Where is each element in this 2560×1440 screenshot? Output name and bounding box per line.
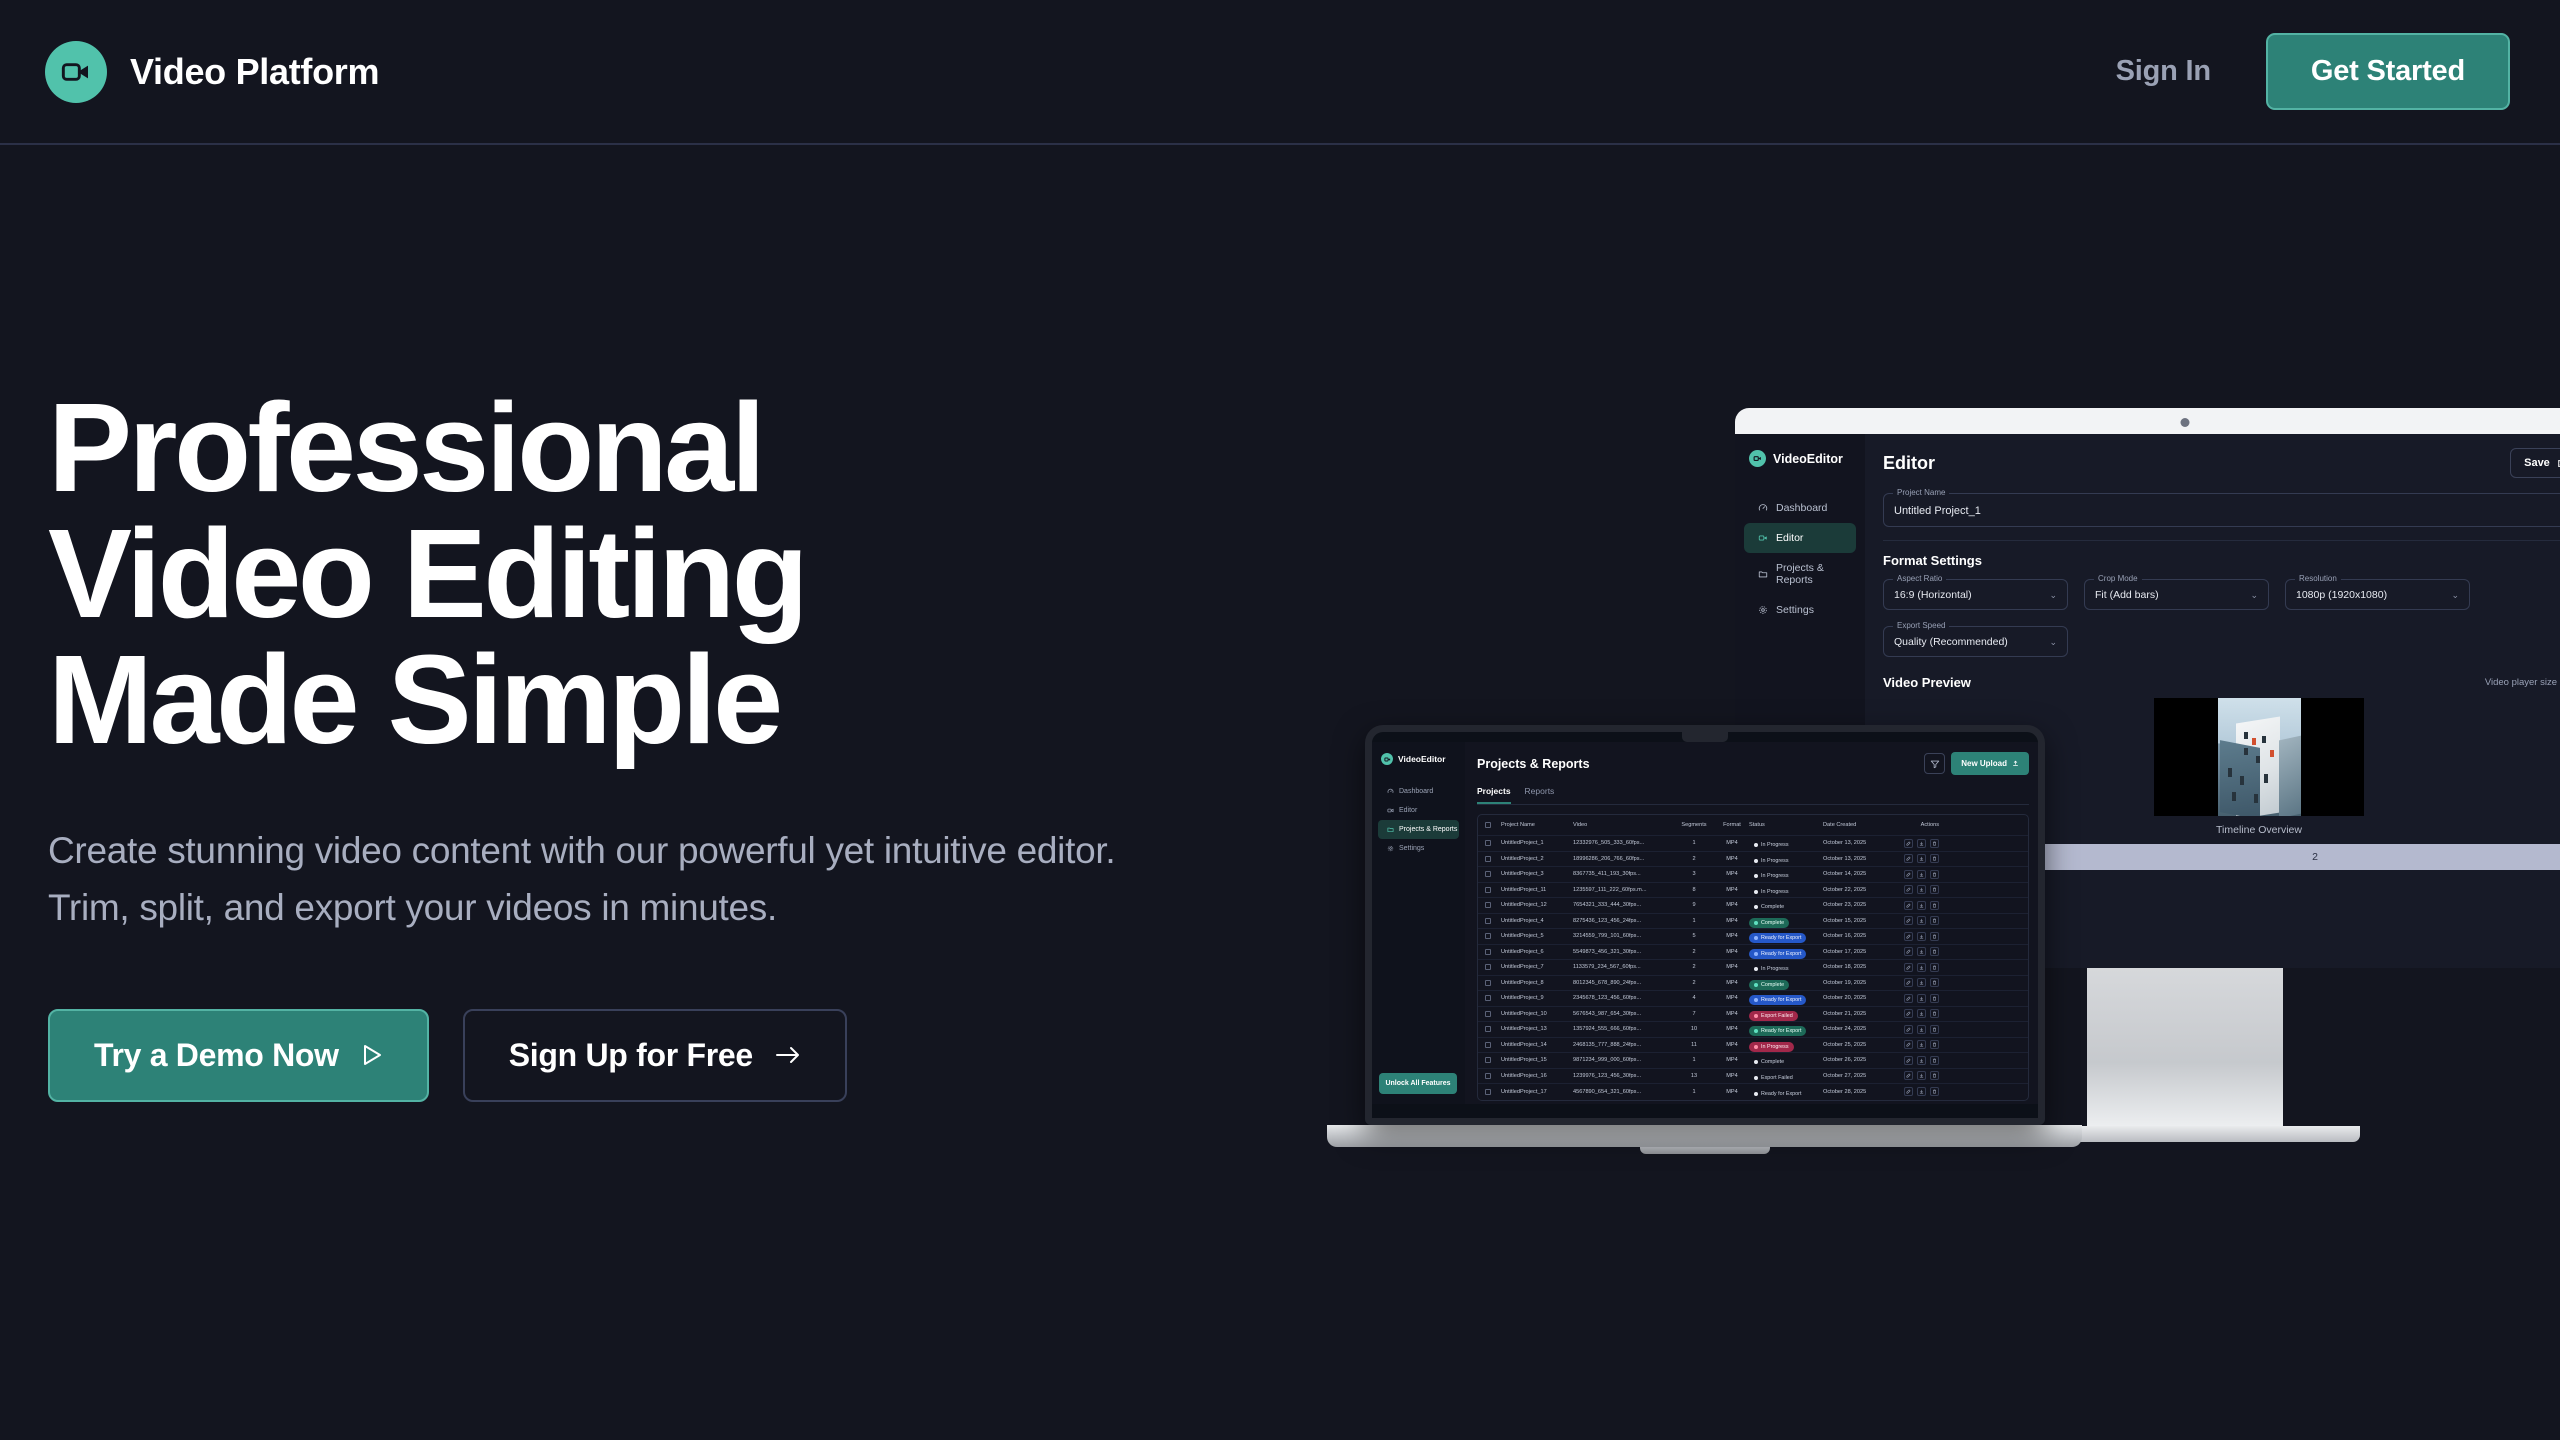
cell-segments: 10 [1673, 1026, 1715, 1032]
chevron-down-icon: ⌄ [2049, 590, 2057, 601]
table-header-row: Project Name Video Segments Format Statu… [1478, 815, 2028, 836]
cell-video: 5676543_987_654_30fps... [1573, 1011, 1673, 1017]
row-checkbox[interactable] [1485, 871, 1491, 877]
status-badge: Export Failed [1749, 1011, 1798, 1021]
download-icon[interactable] [1917, 854, 1926, 863]
edit-icon[interactable] [1904, 1071, 1913, 1080]
edit-icon[interactable] [1904, 916, 1913, 925]
cell-video: 7654321_333_444_30fps... [1573, 902, 1673, 908]
status-badge: Complete [1749, 1057, 1789, 1067]
cell-segments: 2 [1673, 980, 1715, 986]
cell-video: 3214559_799_101_60fps... [1573, 933, 1673, 939]
resolution-label: Resolution [2295, 574, 2341, 583]
status-badge: In Progress [1749, 856, 1794, 866]
export-speed-value: Quality (Recommended) [1894, 636, 2008, 648]
cell-video: 2468135_777_888_24fps... [1573, 1042, 1673, 1048]
trash-icon[interactable] [1930, 994, 1939, 1003]
trash-icon[interactable] [1930, 870, 1939, 879]
cell-date-created: October 21, 2025 [1823, 1011, 1893, 1017]
row-checkbox[interactable] [1485, 964, 1491, 970]
download-icon[interactable] [1917, 901, 1926, 910]
save-label: Save [2524, 457, 2550, 469]
cell-project-name: UntitledProject_11 [1501, 887, 1573, 893]
edit-icon[interactable] [1904, 1025, 1913, 1034]
cell-segments: 8 [1673, 887, 1715, 893]
download-icon[interactable] [1917, 947, 1926, 956]
edit-icon[interactable] [1904, 947, 1913, 956]
cell-segments: 9 [1673, 902, 1715, 908]
resolution-value: 1080p (1920x1080) [2296, 589, 2387, 601]
edit-icon[interactable] [1904, 870, 1913, 879]
download-icon[interactable] [1917, 932, 1926, 941]
row-checkbox[interactable] [1485, 856, 1491, 862]
download-icon[interactable] [1917, 1040, 1926, 1049]
gauge-icon [1758, 503, 1768, 513]
editor-toolbar-buttons: Save Exp [2510, 448, 2560, 478]
cell-project-name: UntitledProject_14 [1501, 1042, 1573, 1048]
trash-icon[interactable] [1930, 901, 1939, 910]
column-header-project-name[interactable]: Project Name [1501, 822, 1573, 828]
cell-format: MP4 [1715, 887, 1749, 893]
divider [1883, 540, 2560, 541]
row-checkbox[interactable] [1485, 1026, 1491, 1032]
editor-toolbar: Editor Save Ex [1883, 448, 2560, 478]
row-checkbox[interactable] [1485, 933, 1491, 939]
cell-date-created: October 28, 2025 [1823, 1089, 1893, 1095]
trash-icon[interactable] [1930, 1087, 1939, 1096]
status-badge: In Progress [1749, 840, 1794, 850]
edit-icon[interactable] [1904, 963, 1913, 972]
column-header-format[interactable]: Format [1715, 822, 1749, 828]
edit-icon[interactable] [1904, 1040, 1913, 1049]
projects-page-title: Projects & Reports [1477, 757, 1590, 771]
cell-video: 18996286_206_766_60fps... [1573, 856, 1673, 862]
download-icon[interactable] [1917, 870, 1926, 879]
column-header-date-created[interactable]: Date Created [1823, 822, 1893, 828]
sidebar-item-editor[interactable]: Editor [1744, 523, 1856, 553]
crop-mode-label: Crop Mode [2094, 574, 2142, 583]
edit-icon[interactable] [1904, 1056, 1913, 1065]
cell-segments: 2 [1673, 856, 1715, 862]
download-icon[interactable] [1917, 916, 1926, 925]
cell-date-created: October 15, 2025 [1823, 918, 1893, 924]
cell-format: MP4 [1715, 933, 1749, 939]
projects-toolbar-actions: New Upload [1924, 752, 2029, 775]
edit-icon[interactable] [1904, 978, 1913, 987]
cell-project-name: UntitledProject_5 [1501, 933, 1573, 939]
select-all-checkbox[interactable] [1485, 822, 1491, 828]
cell-date-created: October 23, 2025 [1823, 902, 1893, 908]
status-badge: Ready for Export [1749, 933, 1806, 943]
project-name-label: Project Name [1893, 488, 1949, 497]
trash-icon[interactable] [1930, 839, 1939, 848]
projects-sidebar: VideoEditor Dashboard [1372, 742, 1465, 1104]
status-badge: Ready for Export [1749, 949, 1806, 959]
project-name-field[interactable]: Project Name Untitled Project_1 [1883, 493, 2560, 527]
row-checkbox[interactable] [1485, 1042, 1491, 1048]
laptop-mockup: VideoEditor Dashboard [1365, 725, 2045, 1154]
cell-segments: 1 [1673, 918, 1715, 924]
column-header-status[interactable]: Status [1749, 822, 1823, 828]
cell-format: MP4 [1715, 1011, 1749, 1017]
row-checkbox[interactable] [1485, 887, 1491, 893]
player-size-label: Video player size [2485, 677, 2557, 688]
crop-mode-value: Fit (Add bars) [2095, 589, 2159, 601]
trash-icon[interactable] [1930, 854, 1939, 863]
download-icon[interactable] [1917, 994, 1926, 1003]
edit-icon[interactable] [1904, 994, 1913, 1003]
cell-project-name: UntitledProject_2 [1501, 856, 1573, 862]
row-checkbox[interactable] [1485, 1073, 1491, 1079]
unlock-all-features-button[interactable]: Unlock All Features [1379, 1073, 1457, 1094]
sidebar-item-projects-reports[interactable]: Projects & Reports [1378, 820, 1459, 839]
column-header-segments[interactable]: Segments [1673, 822, 1715, 828]
format-settings-title: Format Settings [1883, 553, 2560, 568]
player-size-slider[interactable]: Video player size [2485, 677, 2560, 689]
upload-icon [2012, 760, 2019, 767]
cell-format: MP4 [1715, 840, 1749, 846]
trash-icon[interactable] [1930, 916, 1939, 925]
cell-format: MP4 [1715, 995, 1749, 1001]
cell-video: 2345678_123_456_60fps... [1573, 995, 1673, 1001]
table-row[interactable]: UntitledProject_161239976_123_456_30fps.… [1478, 1069, 2028, 1085]
laptop-screen: VideoEditor Dashboard [1372, 742, 2038, 1104]
folder-icon [1387, 826, 1394, 833]
editor-app-name: VideoEditor [1773, 452, 1843, 466]
table-body: UntitledProject_112332976_505_333_60fps.… [1478, 836, 2028, 1100]
trash-icon[interactable] [1930, 947, 1939, 956]
video-player[interactable] [2154, 698, 2364, 816]
cell-video: 1235597_111_222_60fps.m... [1573, 887, 1673, 893]
cell-date-created: October 18, 2025 [1823, 964, 1893, 970]
export-speed-select[interactable]: Export Speed Quality (Recommended) ⌄ [1883, 626, 2068, 657]
status-badge: Export Failed [1749, 1073, 1798, 1083]
editor-app-logo: VideoEditor [1735, 450, 1865, 467]
download-icon[interactable] [1917, 839, 1926, 848]
cell-project-name: UntitledProject_3 [1501, 871, 1573, 877]
cell-date-created: October 26, 2025 [1823, 1057, 1893, 1063]
sidebar-item-label: Dashboard [1399, 788, 1433, 795]
download-icon[interactable] [1917, 963, 1926, 972]
format-settings-group: Aspect Ratio 16:9 (Horizontal) ⌄ Crop Mo… [1883, 579, 2560, 657]
cell-video: 1357924_555_666_60fps... [1573, 1026, 1673, 1032]
cell-video: 5549873_456_321_30fps... [1573, 949, 1673, 955]
cell-segments: 2 [1673, 949, 1715, 955]
resolution-select[interactable]: Resolution 1080p (1920x1080) ⌄ [2285, 579, 2470, 610]
laptop-app-name: VideoEditor [1398, 754, 1446, 764]
row-checkbox[interactable] [1485, 1011, 1491, 1017]
download-icon[interactable] [1917, 1025, 1926, 1034]
chevron-down-icon: ⌄ [2250, 590, 2258, 601]
sidebar-item-label: Projects & Reports [1399, 826, 1457, 833]
trash-icon[interactable] [1930, 932, 1939, 941]
laptop-base [1327, 1125, 2082, 1147]
cell-segments: 13 [1673, 1073, 1715, 1079]
laptop-app-logo: VideoEditor [1372, 753, 1465, 765]
tab-reports[interactable]: Reports [1525, 786, 1555, 804]
cell-project-name: UntitledProject_9 [1501, 995, 1573, 1001]
status-badge: In Progress [1749, 1042, 1794, 1052]
cell-video: 1133579_234_567_60fps... [1573, 964, 1673, 970]
cell-project-name: UntitledProject_16 [1501, 1073, 1573, 1079]
sidebar-item-label: Settings [1399, 845, 1424, 852]
trash-icon[interactable] [1930, 1040, 1939, 1049]
cell-segments: 7 [1673, 1011, 1715, 1017]
edit-icon[interactable] [1904, 1009, 1913, 1018]
cell-format: MP4 [1715, 902, 1749, 908]
cell-video: 1239976_123_456_30fps... [1573, 1073, 1673, 1079]
webcam-icon [2181, 418, 2190, 427]
row-checkbox[interactable] [1485, 902, 1491, 908]
cell-video: 4567890_654_321_60fps... [1573, 1089, 1673, 1095]
tab-projects[interactable]: Projects [1477, 786, 1511, 804]
cell-format: MP4 [1715, 1026, 1749, 1032]
projects-toolbar: Projects & Reports New Upload [1477, 752, 2029, 775]
projects-main: Projects & Reports New Upload [1465, 742, 2038, 1104]
cell-project-name: UntitledProject_1 [1501, 840, 1573, 846]
trash-icon[interactable] [1930, 1056, 1939, 1065]
export-speed-label: Export Speed [1893, 621, 1949, 630]
cell-format: MP4 [1715, 1042, 1749, 1048]
sidebar-item-label: Settings [1776, 604, 1814, 616]
status-badge: In Progress [1749, 964, 1794, 974]
projects-table: Project Name Video Segments Format Statu… [1477, 814, 2029, 1101]
trash-icon[interactable] [1930, 885, 1939, 894]
cell-video: 9871234_999_000_60fps... [1573, 1057, 1673, 1063]
download-icon[interactable] [1917, 1071, 1926, 1080]
cell-format: MP4 [1715, 1073, 1749, 1079]
status-badge: In Progress [1749, 887, 1794, 897]
cell-date-created: October 17, 2025 [1823, 949, 1893, 955]
cell-format: MP4 [1715, 1057, 1749, 1063]
cell-segments: 2 [1673, 964, 1715, 970]
trash-icon[interactable] [1930, 1025, 1939, 1034]
sidebar-item-editor[interactable]: Editor [1378, 801, 1459, 820]
video-preview-title: Video Preview [1883, 675, 1971, 690]
cell-format: MP4 [1715, 1089, 1749, 1095]
folder-icon [1758, 569, 1768, 579]
save-button[interactable]: Save [2510, 448, 2560, 478]
row-checkbox[interactable] [1485, 1089, 1491, 1095]
status-badge: In Progress [1749, 871, 1794, 881]
cell-format: MP4 [1715, 980, 1749, 986]
cell-date-created: October 13, 2025 [1823, 840, 1893, 846]
laptop-notch [1682, 732, 1728, 742]
cell-project-name: UntitledProject_7 [1501, 964, 1573, 970]
cell-format: MP4 [1715, 918, 1749, 924]
cell-date-created: October 22, 2025 [1823, 887, 1893, 893]
sidebar-item-label: Editor [1776, 532, 1803, 544]
cell-project-name: UntitledProject_10 [1501, 1011, 1573, 1017]
sidebar-item-settings[interactable]: Settings [1378, 839, 1459, 858]
aspect-ratio-select[interactable]: Aspect Ratio 16:9 (Horizontal) ⌄ [1883, 579, 2068, 610]
project-name-value: Untitled Project_1 [1894, 505, 2560, 517]
laptop-foot [1640, 1147, 1770, 1154]
sidebar-item-dashboard[interactable]: Dashboard [1744, 493, 1856, 523]
row-checkbox[interactable] [1485, 840, 1491, 846]
edit-icon[interactable] [1904, 1087, 1913, 1096]
row-checkbox[interactable] [1485, 1057, 1491, 1063]
cell-date-created: October 13, 2025 [1823, 856, 1893, 862]
cell-format: MP4 [1715, 964, 1749, 970]
edit-icon[interactable] [1904, 885, 1913, 894]
cell-video: 8012345_678_890_24fps... [1573, 980, 1673, 986]
chevron-down-icon: ⌄ [2451, 590, 2459, 601]
row-checkbox[interactable] [1485, 949, 1491, 955]
cell-segments: 1 [1673, 1057, 1715, 1063]
sidebar-item-label: Editor [1399, 807, 1417, 814]
cell-project-name: UntitledProject_15 [1501, 1057, 1573, 1063]
video-camera-icon [1387, 807, 1394, 814]
sidebar-item-label: Projects & Reports [1776, 562, 1856, 586]
cell-date-created: October 24, 2025 [1823, 1026, 1893, 1032]
device-mockups: VideoEditor Dashboard [0, 0, 2560, 1440]
column-header-actions: Actions [1893, 822, 1939, 828]
cell-format: MP4 [1715, 949, 1749, 955]
edit-icon[interactable] [1904, 854, 1913, 863]
download-icon[interactable] [1917, 1009, 1926, 1018]
cell-date-created: October 19, 2025 [1823, 980, 1893, 986]
cell-video: 8367735_411_193_30fps... [1573, 871, 1673, 877]
new-upload-label: New Upload [1961, 759, 2007, 768]
trash-icon[interactable] [1930, 963, 1939, 972]
cell-project-name: UntitledProject_8 [1501, 980, 1573, 986]
new-upload-button[interactable]: New Upload [1951, 752, 2029, 775]
cell-video: 8275436_123_456_24fps... [1573, 918, 1673, 924]
monitor-neck [2087, 968, 2283, 1126]
cell-format: MP4 [1715, 856, 1749, 862]
row-checkbox[interactable] [1485, 980, 1491, 986]
status-badge: Ready for Export [1749, 995, 1806, 1005]
row-checkbox[interactable] [1485, 995, 1491, 1001]
trash-icon[interactable] [1930, 1071, 1939, 1080]
status-badge: Ready for Export [1749, 1026, 1806, 1036]
timeline-overview-label: Timeline Overview [2216, 824, 2302, 836]
cell-video: 12332976_505_333_60fps... [1573, 840, 1673, 846]
status-badge: Complete [1749, 918, 1789, 928]
sidebar-item-settings[interactable]: Settings [1744, 595, 1856, 625]
crop-mode-select[interactable]: Crop Mode Fit (Add bars) ⌄ [2084, 579, 2269, 610]
download-icon[interactable] [1917, 1056, 1926, 1065]
download-icon[interactable] [1917, 978, 1926, 987]
cell-project-name: UntitledProject_6 [1501, 949, 1573, 955]
cell-project-name: UntitledProject_12 [1501, 902, 1573, 908]
aspect-ratio-label: Aspect Ratio [1893, 574, 1946, 583]
download-icon[interactable] [1917, 1087, 1926, 1096]
status-badge: Complete [1749, 902, 1789, 912]
status-badge: Complete [1749, 980, 1789, 990]
cell-segments: 1 [1673, 1089, 1715, 1095]
cell-segments: 3 [1673, 871, 1715, 877]
trash-icon[interactable] [1930, 1009, 1939, 1018]
status-badge: Ready for Export [1749, 1089, 1806, 1099]
laptop-lid: VideoEditor Dashboard [1365, 725, 2045, 1125]
cell-project-name: UntitledProject_13 [1501, 1026, 1573, 1032]
gear-icon [1387, 845, 1394, 852]
editor-page-title: Editor [1883, 453, 1935, 474]
cell-format: MP4 [1715, 871, 1749, 877]
cell-date-created: October 25, 2025 [1823, 1042, 1893, 1048]
cell-date-created: October 20, 2025 [1823, 995, 1893, 1001]
aspect-ratio-value: 16:9 (Horizontal) [1894, 589, 1972, 601]
video-preview-header: Video Preview Video player size [1883, 675, 2560, 690]
sidebar-item-projects-reports[interactable]: Projects & Reports [1744, 553, 1856, 595]
table-row[interactable]: UntitledProject_174567890_654_321_60fps.… [1478, 1084, 2028, 1100]
column-header-video[interactable]: Video [1573, 822, 1673, 828]
cell-segments: 11 [1673, 1042, 1715, 1048]
sidebar-item-dashboard[interactable]: Dashboard [1378, 782, 1459, 801]
projects-tabs: Projects Reports [1477, 786, 2029, 805]
edit-icon[interactable] [1904, 839, 1913, 848]
chevron-down-icon: ⌄ [2049, 637, 2057, 648]
cell-project-name: UntitledProject_4 [1501, 918, 1573, 924]
download-icon[interactable] [1917, 885, 1926, 894]
edit-icon[interactable] [1904, 932, 1913, 941]
filter-icon[interactable] [1924, 753, 1945, 774]
gear-icon [1758, 605, 1768, 615]
video-camera-icon [1758, 533, 1768, 543]
sidebar-item-label: Dashboard [1776, 502, 1827, 514]
cell-date-created: October 27, 2025 [1823, 1073, 1893, 1079]
cell-segments: 4 [1673, 995, 1715, 1001]
edit-icon[interactable] [1904, 901, 1913, 910]
cell-project-name: UntitledProject_17 [1501, 1089, 1573, 1095]
cell-date-created: October 14, 2025 [1823, 871, 1893, 877]
landing-page: Video Platform Sign In Get Started Profe… [0, 0, 2560, 1440]
cell-date-created: October 16, 2025 [1823, 933, 1893, 939]
trash-icon[interactable] [1930, 978, 1939, 987]
video-camera-icon [1749, 450, 1766, 467]
cell-segments: 1 [1673, 840, 1715, 846]
cell-segments: 5 [1673, 933, 1715, 939]
video-camera-icon [1381, 753, 1393, 765]
video-frame-building-photo [2218, 698, 2301, 816]
gauge-icon [1387, 788, 1394, 795]
row-checkbox[interactable] [1485, 918, 1491, 924]
